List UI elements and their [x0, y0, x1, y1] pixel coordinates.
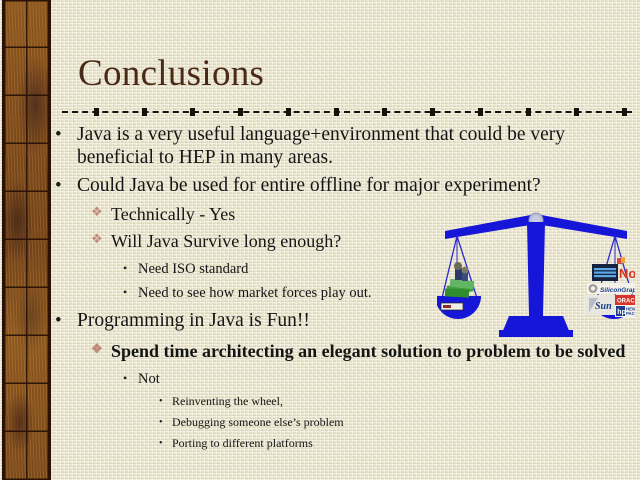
bullet-item-level4: • Porting to different platforms [159, 436, 640, 452]
disc-bullet-icon: • [55, 310, 77, 332]
bullet-item-level3: • Not [123, 370, 640, 389]
bullet-text: Porting to different platforms [172, 436, 640, 452]
bullet-item-level2: ❖ Spend time architecting an elegant sol… [91, 341, 640, 363]
small-disc-bullet-icon: • [123, 284, 138, 301]
bullet-text: Will Java Survive long enough? [111, 231, 640, 253]
bullet-text: Programming in Java is Fun!! [77, 310, 640, 333]
small-disc-bullet-icon: • [159, 436, 172, 451]
disc-bullet-icon: • [55, 175, 77, 197]
bullet-text: Debugging someone else’s problem [172, 415, 640, 431]
star-bullet-icon: ❖ [91, 341, 111, 358]
bullet-item-level3: • Need ISO standard [123, 260, 640, 279]
divider-square-dots [62, 108, 632, 116]
small-disc-bullet-icon: • [159, 415, 172, 430]
bullet-item-level4: • Debugging someone else’s problem [159, 415, 640, 431]
star-bullet-icon: ❖ [91, 231, 111, 248]
bullet-text: Technically - Yes [111, 204, 640, 226]
bullet-text: Need ISO standard [138, 260, 640, 279]
small-disc-bullet-icon: • [123, 260, 138, 277]
bullet-text: Could Java be used for entire offline fo… [77, 175, 640, 198]
bullet-item-level2: ❖ Technically - Yes [91, 204, 640, 226]
page-title: Conclusions [78, 52, 264, 95]
slide-body: • Java is a very useful language+environ… [55, 124, 640, 453]
small-disc-bullet-icon: • [123, 370, 138, 387]
slide-canvas: Conclusions [0, 0, 640, 480]
star-bullet-icon: ❖ [91, 204, 111, 221]
bullet-item-level3: • Need to see how market forces play out… [123, 284, 640, 303]
bullet-text: Not [138, 370, 640, 389]
bullet-text: Need to see how market forces play out. [138, 284, 640, 303]
decorative-left-border [2, 0, 51, 480]
bullet-text: Java is a very useful language+environme… [77, 124, 640, 169]
bullet-text: Reinventing the wheel, [172, 394, 640, 410]
bullet-item-level1: • Programming in Java is Fun!! [55, 310, 640, 333]
small-disc-bullet-icon: • [159, 394, 172, 409]
bullet-item-level1: • Java is a very useful language+environ… [55, 124, 640, 169]
disc-bullet-icon: • [55, 124, 77, 146]
title-divider [62, 108, 632, 116]
bullet-item-level1: • Could Java be used for entire offline … [55, 175, 640, 198]
bullet-text: Spend time architecting an elegant solut… [111, 341, 640, 363]
bullet-item-level4: • Reinventing the wheel, [159, 394, 640, 410]
bullet-item-level2: ❖ Will Java Survive long enough? [91, 231, 640, 253]
